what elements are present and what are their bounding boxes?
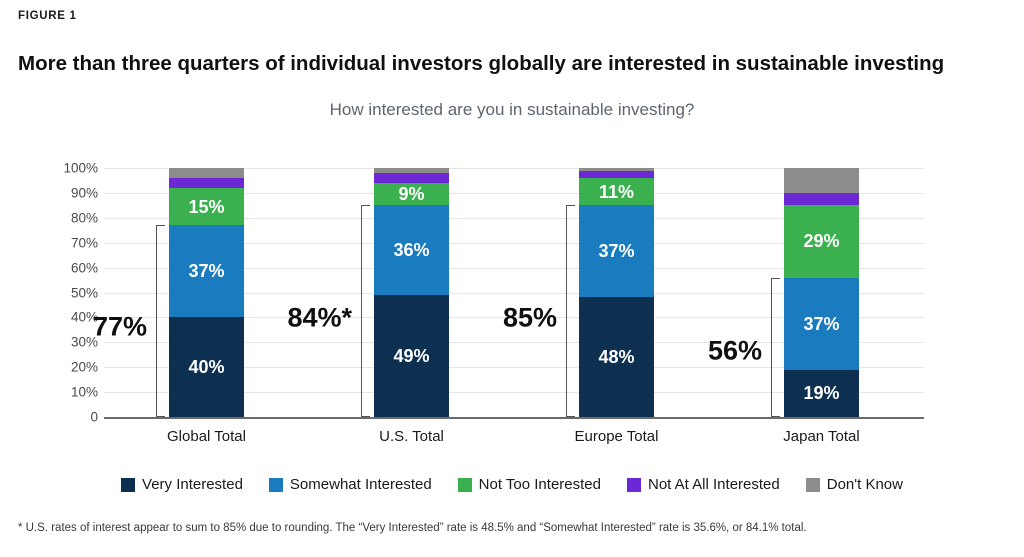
category-label: Europe Total: [527, 428, 707, 445]
bar-segment-label: 36%: [393, 241, 429, 259]
y-axis-tick-label: 30%: [54, 335, 98, 350]
bar-segment[interactable]: [784, 168, 859, 193]
legend-swatch: [269, 478, 283, 492]
legend-swatch: [806, 478, 820, 492]
footnote: * U.S. rates of interest appear to sum t…: [18, 522, 1018, 534]
bar-segment[interactable]: [374, 168, 449, 173]
bar-segment-label: 37%: [803, 315, 839, 333]
figure-label: FIGURE 1: [18, 10, 77, 22]
bar-segment-label: 9%: [398, 185, 424, 203]
legend-label: Not At All Interested: [648, 476, 780, 493]
bar-segment[interactable]: 15%: [169, 188, 244, 225]
bar-stack[interactable]: 48%37%11%: [579, 168, 654, 417]
bar-segment-label: 15%: [188, 198, 224, 216]
bar-segment[interactable]: 49%: [374, 295, 449, 417]
bar-segment-label: 11%: [599, 183, 634, 201]
bar-stack[interactable]: 49%36%9%: [374, 168, 449, 417]
legend-item[interactable]: Not Too Interested: [458, 476, 601, 493]
bar-segment[interactable]: 29%: [784, 205, 859, 277]
legend-swatch: [627, 478, 641, 492]
y-axis-tick-label: 70%: [54, 235, 98, 250]
chart-title: More than three quarters of individual i…: [18, 52, 944, 76]
bracket: [361, 205, 370, 417]
y-axis-tick-label: 20%: [54, 360, 98, 375]
bar-segment[interactable]: 40%: [169, 317, 244, 417]
bar-segment-label: 37%: [598, 242, 634, 260]
bar-segment[interactable]: [579, 168, 654, 170]
legend-label: Very Interested: [142, 476, 243, 493]
bar-segment[interactable]: 9%: [374, 183, 449, 205]
category-label: U.S. Total: [322, 428, 502, 445]
legend-item[interactable]: Not At All Interested: [627, 476, 780, 493]
bar-segment-label: 37%: [188, 262, 224, 280]
legend-label: Somewhat Interested: [290, 476, 432, 493]
bar-segment-label: 48%: [598, 348, 634, 366]
bracket-value-label: 77%: [93, 311, 147, 342]
bar-segment-label: 19%: [803, 384, 839, 402]
y-axis-tick-label: 100%: [54, 161, 98, 176]
y-axis-tick-label: 90%: [54, 185, 98, 200]
legend: Very InterestedSomewhat InterestedNot To…: [0, 476, 1024, 493]
bracket: [771, 278, 780, 417]
legend-item[interactable]: Very Interested: [121, 476, 243, 493]
bar-segment[interactable]: 37%: [579, 205, 654, 297]
bar-segment[interactable]: [169, 168, 244, 178]
bracket-value-label: 56%: [708, 336, 762, 367]
legend-label: Not Too Interested: [479, 476, 601, 493]
legend-label: Don't Know: [827, 476, 903, 493]
bar-segment[interactable]: 37%: [784, 278, 859, 370]
bar-segment[interactable]: [169, 178, 244, 188]
bar-stack[interactable]: 40%37%15%: [169, 168, 244, 417]
y-axis-tick-label: 40%: [54, 310, 98, 325]
bracket: [156, 225, 165, 417]
y-axis-tick-label: 50%: [54, 285, 98, 300]
bar-segment-label: 40%: [188, 358, 224, 376]
bracket: [566, 205, 575, 417]
x-axis-line: [104, 417, 924, 419]
bracket-value-label: 85%: [503, 302, 557, 333]
legend-item[interactable]: Don't Know: [806, 476, 903, 493]
y-axis-tick-label: 0: [54, 410, 98, 425]
bar-segment[interactable]: [374, 173, 449, 183]
legend-swatch: [458, 478, 472, 492]
y-axis: 100%90%80%70%60%50%40%30%20%10%0: [52, 168, 98, 417]
bar-segment[interactable]: 19%: [784, 370, 859, 417]
bar-segment[interactable]: 11%: [579, 178, 654, 205]
bar-segment[interactable]: [579, 171, 654, 178]
y-axis-tick-label: 80%: [54, 210, 98, 225]
bar-segment[interactable]: 37%: [169, 225, 244, 317]
bracket-value-label: 84%*: [287, 302, 352, 333]
bar-segment[interactable]: 36%: [374, 205, 449, 295]
bar-segment-label: 29%: [803, 232, 839, 250]
bar-stack[interactable]: 19%37%29%: [784, 168, 859, 417]
category-label: Japan Total: [732, 428, 912, 445]
legend-item[interactable]: Somewhat Interested: [269, 476, 432, 493]
plot-area: 40%37%15%49%36%9%48%37%11%19%37%29% 77%8…: [104, 168, 924, 417]
bar-segment-label: 49%: [393, 347, 429, 365]
chart-subtitle: How interested are you in sustainable in…: [0, 100, 1024, 120]
category-label: Global Total: [117, 428, 297, 445]
bar-segment[interactable]: [784, 193, 859, 205]
y-axis-tick-label: 60%: [54, 260, 98, 275]
legend-swatch: [121, 478, 135, 492]
bar-segment[interactable]: 48%: [579, 297, 654, 417]
y-axis-tick-label: 10%: [54, 385, 98, 400]
